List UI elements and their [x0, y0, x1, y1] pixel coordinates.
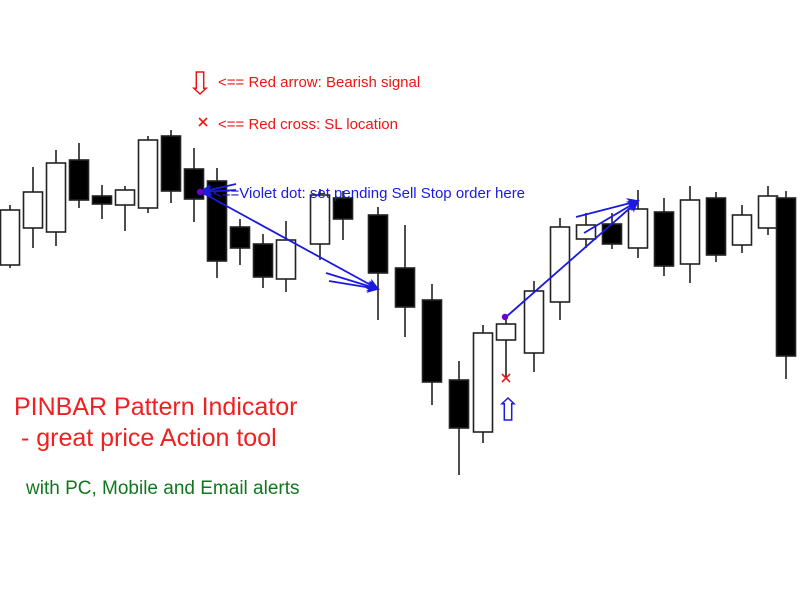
candle-body-bearish	[369, 215, 388, 273]
candlestick-9	[185, 148, 204, 222]
alerts-tagline: with PC, Mobile and Email alerts	[26, 478, 300, 500]
candle-body-bearish	[396, 268, 415, 307]
candlestick-17	[396, 225, 415, 337]
chart-canvas: <== Red arrow: Bearish signal <== Red cr…	[0, 0, 800, 600]
candlestick-7	[139, 136, 158, 213]
candle-body-bearish	[777, 198, 796, 356]
candle-body-bearish	[70, 160, 89, 200]
sl-location-note: <== Red cross: SL location	[218, 117, 398, 132]
candlestick-29	[707, 192, 726, 262]
product-title: PINBAR Pattern Indicator - great price A…	[14, 392, 297, 454]
candlestick-32	[777, 191, 796, 379]
candlestick-19	[450, 361, 469, 475]
candlestick-12	[254, 234, 273, 288]
candle-body-bullish	[681, 200, 700, 264]
candle-body-bullish	[24, 192, 43, 228]
candlestick-6	[116, 186, 135, 231]
legend-red-cross	[199, 118, 207, 126]
candle-body-bullish	[474, 333, 493, 432]
candlestick-2	[24, 167, 43, 248]
candlestick-11	[231, 219, 250, 265]
candlestick-27	[655, 198, 674, 276]
candle-body-bullish	[47, 163, 66, 232]
bearish-signal-note: <== Red arrow: Bearish signal	[218, 75, 420, 90]
candlestick-24	[577, 213, 596, 248]
candlestick-20	[474, 325, 493, 443]
sell-stop-note: <==Violet dot: set pending Sell Stop ord…	[213, 186, 525, 201]
legend-violet-dot	[197, 189, 203, 195]
candlestick-21	[497, 318, 516, 378]
candle-body-bearish	[707, 198, 726, 255]
candle-body-bullish	[116, 190, 135, 205]
candle-body-bullish	[139, 140, 158, 208]
legend-red-down-arrow	[194, 72, 206, 94]
candle-body-bearish	[603, 224, 622, 244]
candle-body-bullish	[277, 240, 296, 279]
signal-violet-dot	[502, 314, 508, 320]
candlestick-3	[47, 150, 66, 246]
candle-body-bullish	[525, 291, 544, 353]
candle-body-bearish	[655, 212, 674, 266]
candlestick-5	[93, 185, 112, 219]
candlestick-26	[629, 190, 648, 258]
candlestick-28	[681, 186, 700, 283]
candle-body-bearish	[162, 136, 181, 191]
signal-blue-up-arrow	[502, 398, 514, 420]
candle-body-bullish	[759, 196, 778, 228]
candlestick-30	[733, 205, 752, 253]
candlestick-31	[759, 186, 778, 235]
candlestick-8	[162, 130, 181, 203]
candle-body-bearish	[93, 196, 112, 204]
candle-body-bullish	[497, 324, 516, 340]
product-title-line1: PINBAR Pattern Indicator	[14, 393, 297, 421]
candle-body-bullish	[1, 210, 20, 265]
candle-body-bearish	[423, 300, 442, 382]
candle-body-bullish	[629, 209, 648, 248]
candle-body-bullish	[311, 195, 330, 244]
candlestick-13	[277, 221, 296, 292]
candle-body-bearish	[231, 227, 250, 248]
candle-body-bearish	[450, 380, 469, 428]
candlestick-4	[70, 143, 89, 208]
bullish-trend-arrow	[506, 201, 638, 317]
candle-body-bearish	[254, 244, 273, 277]
candlestick-18	[423, 284, 442, 405]
candle-body-bullish	[733, 215, 752, 245]
candlestick-22	[525, 281, 544, 372]
candlestick-1	[1, 205, 20, 268]
product-title-line2: - great price Action tool	[14, 424, 277, 452]
candlestick-16	[369, 207, 388, 320]
